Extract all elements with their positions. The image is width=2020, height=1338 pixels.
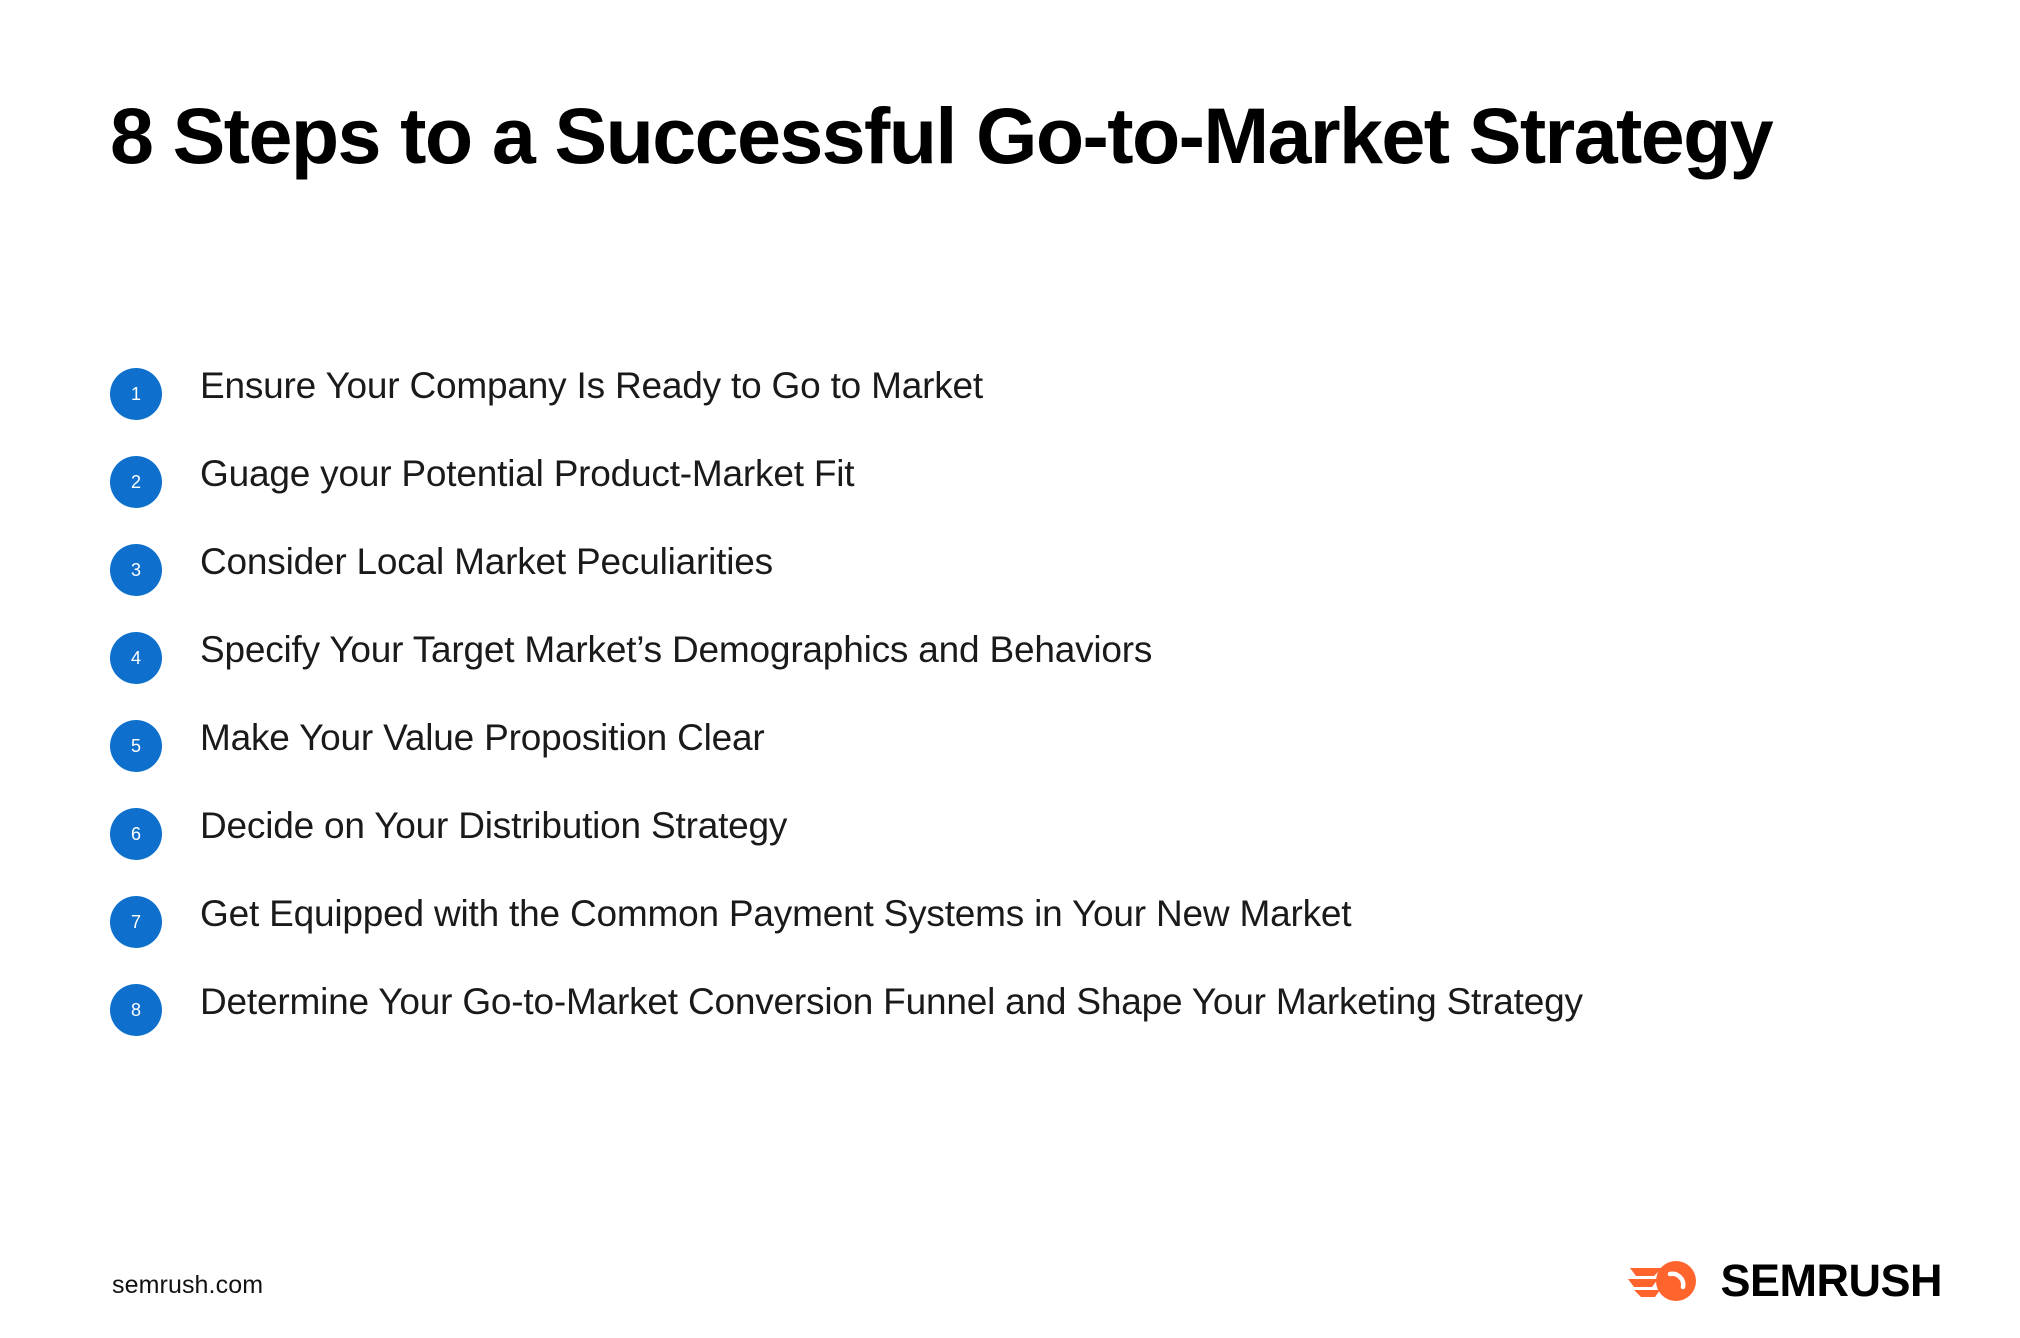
step-label: Ensure Your Company Is Ready to Go to Ma… bbox=[200, 362, 1620, 410]
list-item: 5 Make Your Value Proposition Clear bbox=[110, 714, 1900, 772]
step-label: Decide on Your Distribution Strategy bbox=[200, 802, 1620, 850]
list-item: 8 Determine Your Go-to-Market Conversion… bbox=[110, 978, 1900, 1036]
step-number-badge: 1 bbox=[110, 368, 162, 420]
semrush-wordmark: SEMRUSH bbox=[1720, 1258, 1942, 1303]
step-label: Guage your Potential Product-Market Fit bbox=[200, 450, 1620, 498]
list-item: 7 Get Equipped with the Common Payment S… bbox=[110, 890, 1900, 948]
footer-website-url: semrush.com bbox=[112, 1271, 263, 1300]
semrush-comet-logo-icon bbox=[1628, 1254, 1704, 1306]
step-number-badge: 3 bbox=[110, 544, 162, 596]
infographic-slide: 8 Steps to a Successful Go-to-Market Str… bbox=[0, 0, 2020, 1338]
step-number-badge: 5 bbox=[110, 720, 162, 772]
page-title: 8 Steps to a Successful Go-to-Market Str… bbox=[110, 92, 1810, 180]
list-item: 2 Guage your Potential Product-Market Fi… bbox=[110, 450, 1900, 508]
list-item: 3 Consider Local Market Peculiarities bbox=[110, 538, 1900, 596]
step-number-badge: 2 bbox=[110, 456, 162, 508]
step-number-badge: 6 bbox=[110, 808, 162, 860]
step-label: Consider Local Market Peculiarities bbox=[200, 538, 1620, 586]
semrush-logo: SEMRUSH bbox=[1628, 1254, 1942, 1306]
list-item: 6 Decide on Your Distribution Strategy bbox=[110, 802, 1900, 860]
step-label: Determine Your Go-to-Market Conversion F… bbox=[200, 978, 1620, 1026]
list-item: 4 Specify Your Target Market’s Demograph… bbox=[110, 626, 1900, 684]
list-item: 1 Ensure Your Company Is Ready to Go to … bbox=[110, 362, 1900, 420]
step-number-badge: 7 bbox=[110, 896, 162, 948]
step-label: Get Equipped with the Common Payment Sys… bbox=[200, 890, 1620, 938]
step-number-badge: 8 bbox=[110, 984, 162, 1036]
steps-list: 1 Ensure Your Company Is Ready to Go to … bbox=[110, 362, 1900, 1036]
step-label: Specify Your Target Market’s Demographic… bbox=[200, 626, 1620, 674]
step-number-badge: 4 bbox=[110, 632, 162, 684]
step-label: Make Your Value Proposition Clear bbox=[200, 714, 1620, 762]
